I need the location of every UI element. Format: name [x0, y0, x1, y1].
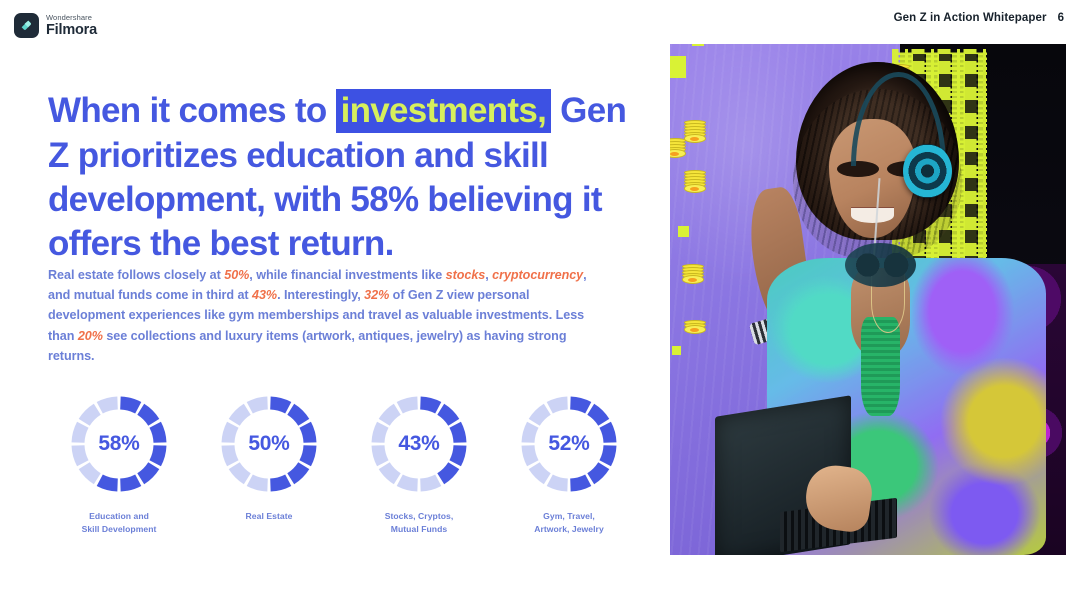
- photo-image: [670, 44, 1066, 555]
- donut-caption-line: Mutual Funds: [385, 523, 454, 536]
- body-seg-5: . Interestingly,: [277, 288, 364, 302]
- donut-value-label: 50%: [217, 392, 321, 496]
- donut-caption-line: Artwork, Jewelry: [534, 523, 604, 536]
- donut-chart-item: 52%Gym, Travel,Artwork, Jewelry: [494, 392, 644, 537]
- person-subject: [721, 59, 1046, 555]
- donut-caption-line: Real Estate: [246, 510, 293, 523]
- donut-value-label: 43%: [367, 392, 471, 496]
- document-title: Gen Z in Action Whitepaper: [894, 12, 1047, 24]
- body-stat-cryptocurrency: cryptocurrency: [492, 268, 583, 282]
- donut-chart-item: 58%Education andSkill Development: [44, 392, 194, 537]
- donut-caption-line: Education and: [82, 510, 157, 523]
- header-meta: Gen Z in Action Whitepaper 6: [894, 12, 1064, 24]
- logo-brand-text: Wondershare: [46, 14, 97, 22]
- coin-stack-icon: [684, 172, 706, 193]
- body-seg-1: Real estate follows closely at: [48, 268, 224, 282]
- donut-caption-line: Skill Development: [82, 523, 157, 536]
- mouth: [851, 208, 893, 223]
- coin-stack-icon: [682, 266, 704, 284]
- donut-chart-row: 58%Education andSkill Development50%Real…: [44, 392, 644, 537]
- content-column: When it comes to investments, Gen Z prio…: [0, 52, 650, 602]
- filmora-play-icon: [14, 13, 39, 38]
- body-stat-20: 20%: [78, 329, 103, 343]
- logo-product-text: Filmora: [46, 23, 97, 38]
- body-stat-50: 50%: [224, 268, 249, 282]
- logo-wordmark: Wondershare Filmora: [46, 14, 97, 38]
- body-stat-43: 43%: [252, 288, 277, 302]
- body-stat-stocks: stocks: [446, 268, 486, 282]
- yellow-square-decoration: [678, 226, 689, 237]
- body-paragraph: Real estate follows closely at 50%, whil…: [48, 265, 601, 367]
- headline-highlight: investments,: [336, 89, 552, 133]
- coin-stack-icon: [684, 322, 706, 334]
- donut-caption: Real Estate: [246, 510, 293, 523]
- wondershare-filmora-logo[interactable]: Wondershare Filmora: [14, 13, 97, 38]
- body-seg-7: see collections and luxury items (artwor…: [48, 329, 566, 363]
- yellow-square-decoration: [672, 346, 681, 355]
- headline-part-before: When it comes to: [48, 91, 336, 130]
- donut-caption: Gym, Travel,Artwork, Jewelry: [534, 510, 604, 537]
- donut-ring: 43%: [367, 392, 471, 496]
- donut-caption-line: Gym, Travel,: [534, 510, 604, 523]
- green-top: [861, 317, 900, 416]
- donut-ring: 58%: [67, 392, 171, 496]
- photo-collage-panel: [656, 32, 1066, 555]
- yellow-square-decoration: [670, 56, 686, 78]
- page-number: 6: [1058, 12, 1064, 24]
- donut-ring: 52%: [517, 392, 621, 496]
- body-stat-32: 32%: [364, 288, 389, 302]
- donut-value-label: 58%: [67, 392, 171, 496]
- donut-chart-item: 43%Stocks, Cryptos,Mutual Funds: [344, 392, 494, 537]
- donut-caption: Education andSkill Development: [82, 510, 157, 537]
- donut-chart-item: 50%Real Estate: [194, 392, 344, 537]
- headphone-earcup-icon: [903, 144, 952, 199]
- page-headline: When it comes to investments, Gen Z prio…: [48, 89, 628, 266]
- coin-stack-icon: [670, 140, 686, 158]
- donut-caption-line: Stocks, Cryptos,: [385, 510, 454, 523]
- neck-headphones: [845, 243, 916, 288]
- yellow-square-decoration: [692, 44, 704, 46]
- donut-value-label: 52%: [517, 392, 621, 496]
- donut-ring: 50%: [217, 392, 321, 496]
- donut-caption: Stocks, Cryptos,Mutual Funds: [385, 510, 454, 537]
- body-seg-2: , while financial investments like: [249, 268, 445, 282]
- coin-stack-icon: [684, 122, 706, 143]
